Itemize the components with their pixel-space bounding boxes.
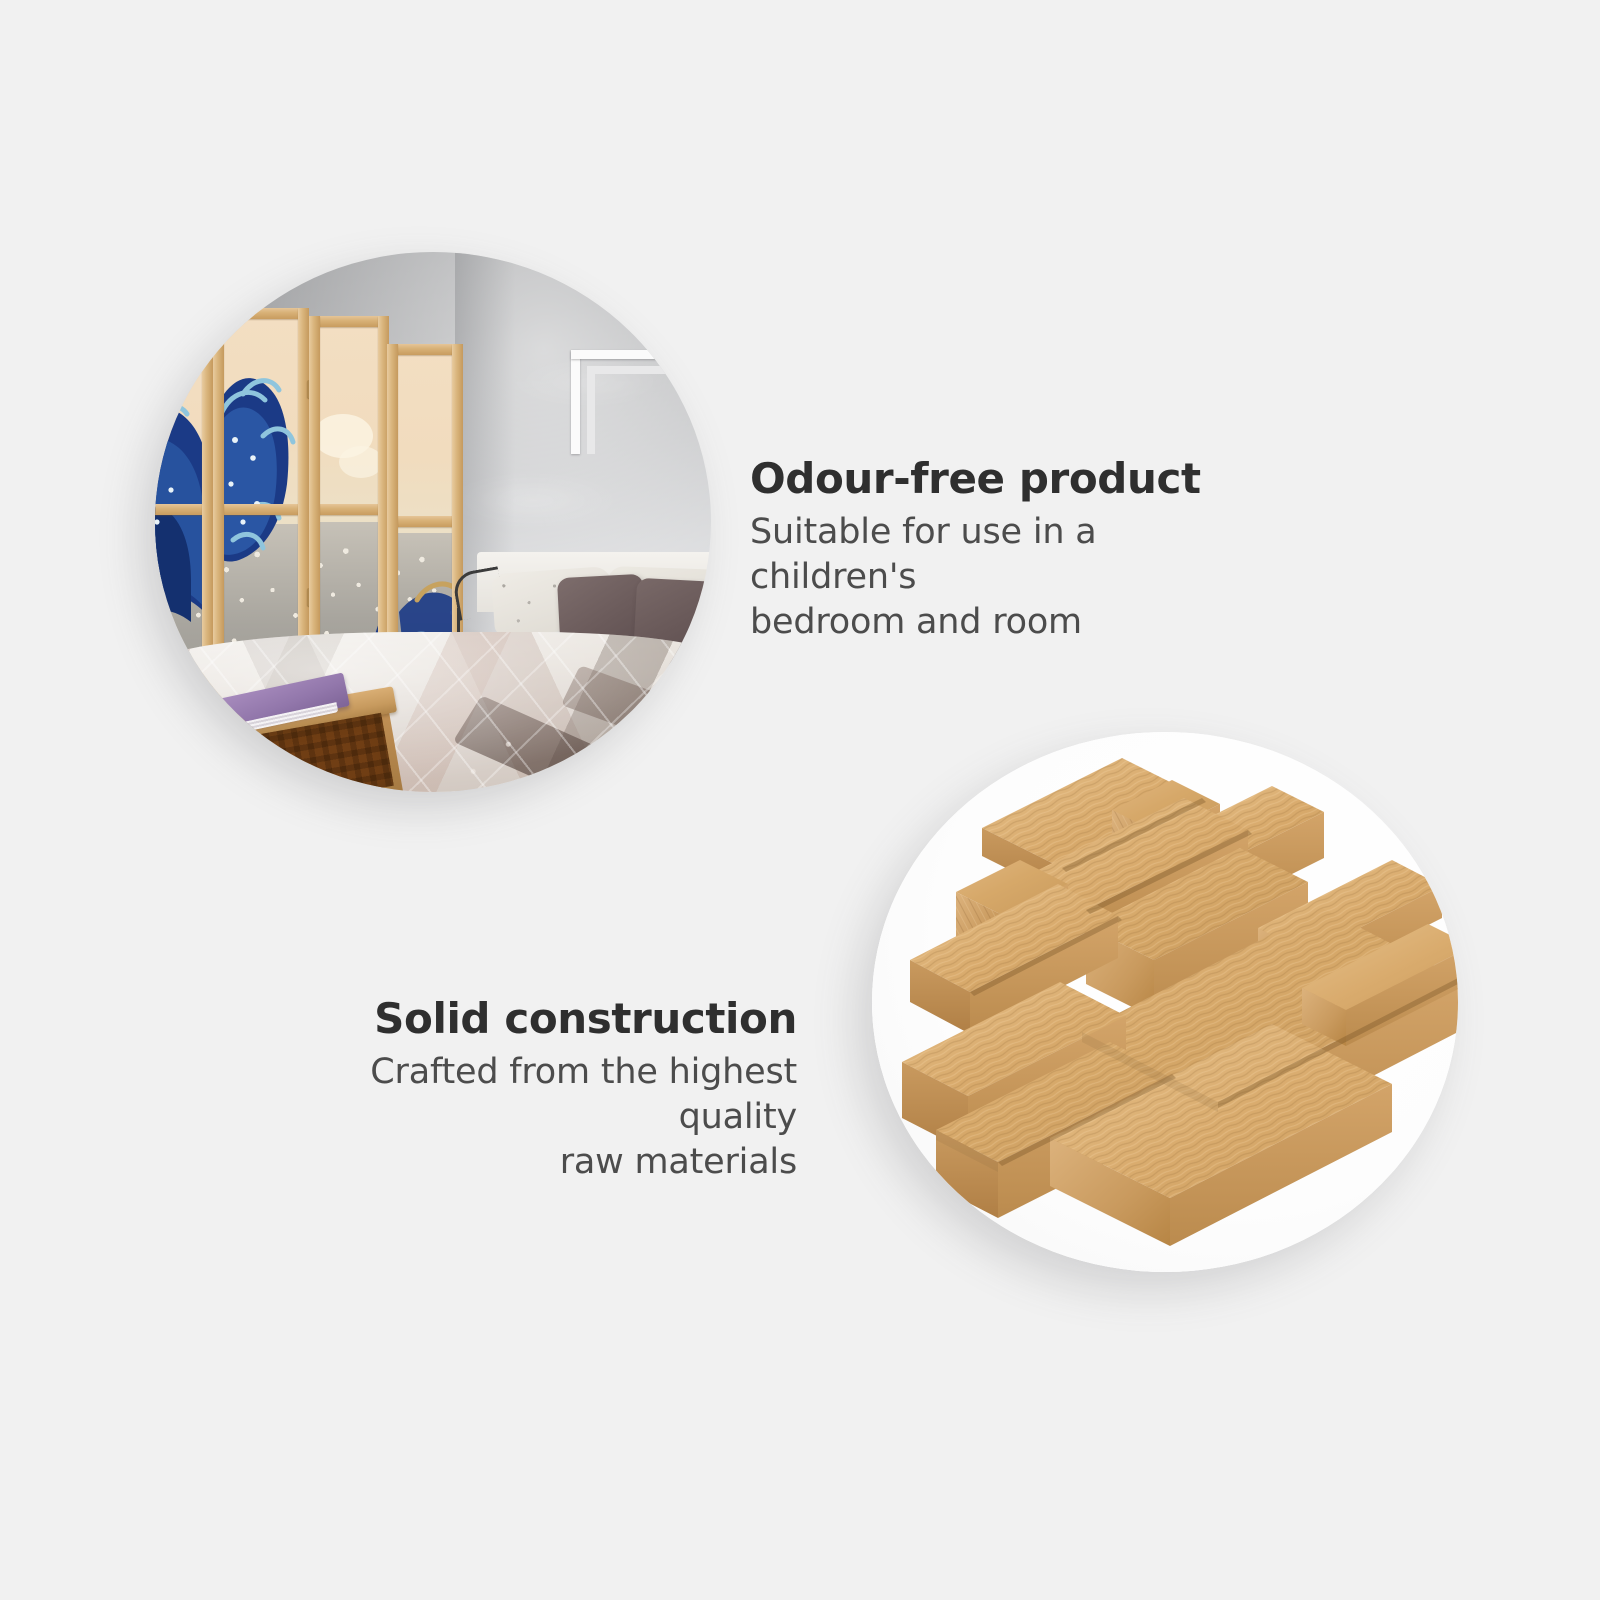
feature-subtitle-line: bedroom and room bbox=[750, 602, 1082, 642]
feature-copy-odour-free: Odour-free product Suitable for use in a… bbox=[750, 455, 1270, 644]
stacked-timber-illustration bbox=[872, 732, 1458, 1272]
feature-title: Solid construction bbox=[265, 995, 797, 1042]
feature-title: Odour-free product bbox=[750, 455, 1270, 502]
feature-subtitle-line: raw materials bbox=[560, 1142, 797, 1182]
feature-subtitle-line: Crafted from the highest quality bbox=[370, 1052, 797, 1137]
feature-showcase: Odour-free product Suitable for use in a… bbox=[0, 0, 1600, 1600]
feature-subtitle-line: Suitable for use in a children's bbox=[750, 512, 1097, 597]
stacked-timber-photo bbox=[872, 732, 1458, 1272]
feature-copy-solid-construction: Solid construction Crafted from the high… bbox=[265, 995, 797, 1184]
feature-subtitle: Crafted from the highest quality raw mat… bbox=[265, 1050, 797, 1184]
bedroom-room-divider-photo bbox=[155, 252, 711, 792]
feature-subtitle: Suitable for use in a children's bedroom… bbox=[750, 510, 1270, 644]
picture-frame-corner bbox=[571, 332, 691, 452]
